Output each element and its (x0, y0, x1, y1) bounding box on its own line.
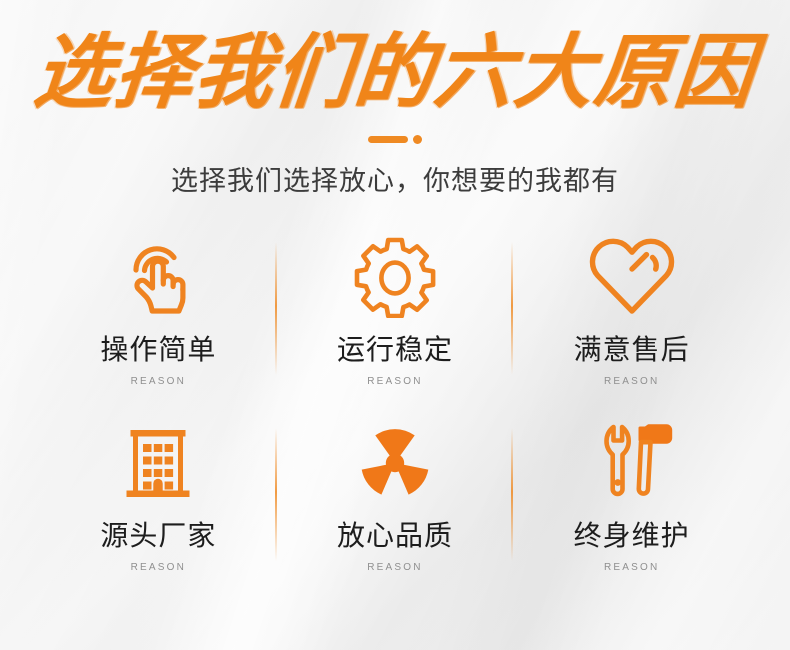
reason-label: 源头厂家 (100, 522, 216, 550)
touch-hand-icon (119, 236, 197, 318)
reason-card-2[interactable]: 运行稳定 REASON (277, 232, 514, 418)
reason-label: 终身维护 (574, 522, 690, 550)
page-subtitle: 选择我们选择放心，你想要的我都有 (0, 166, 790, 198)
reason-label: 满意售后 (574, 336, 690, 364)
title-section: 选择我们的六大原因 (0, 0, 790, 104)
reason-sublabel: REASON (604, 377, 659, 387)
reason-sublabel: REASON (131, 377, 186, 387)
reason-label: 运行稳定 (337, 336, 453, 364)
factory-building-icon (118, 422, 198, 504)
reasons-grid: 操作简单 REASON 运行稳定 REASON 满 (40, 232, 750, 604)
reason-card-6[interactable]: 终身维护 REASON (513, 418, 750, 604)
heart-icon (589, 236, 675, 318)
divider-bar-icon (368, 136, 408, 143)
wrench-hammer-icon (588, 422, 676, 504)
reason-card-1[interactable]: 操作简单 REASON (40, 232, 277, 418)
title-divider (0, 134, 790, 144)
reason-card-5[interactable]: 放心品质 REASON (277, 418, 514, 604)
page-title: 选择我们的六大原因 (31, 32, 760, 113)
reason-sublabel: REASON (367, 563, 422, 573)
reason-card-3[interactable]: 满意售后 REASON (513, 232, 750, 418)
reason-sublabel: REASON (131, 563, 186, 573)
reason-sublabel: REASON (367, 377, 422, 387)
reason-label: 操作简单 (100, 336, 216, 364)
promo-poster: 选择我们的六大原因 选择我们选择放心，你想要的我都有 (0, 0, 790, 650)
divider-dot-icon (413, 135, 422, 144)
reason-label: 放心品质 (337, 522, 453, 550)
radiation-quality-icon (352, 422, 438, 504)
gear-icon (353, 236, 437, 318)
reason-sublabel: REASON (604, 563, 659, 573)
reason-card-4[interactable]: 源头厂家 REASON (40, 418, 277, 604)
